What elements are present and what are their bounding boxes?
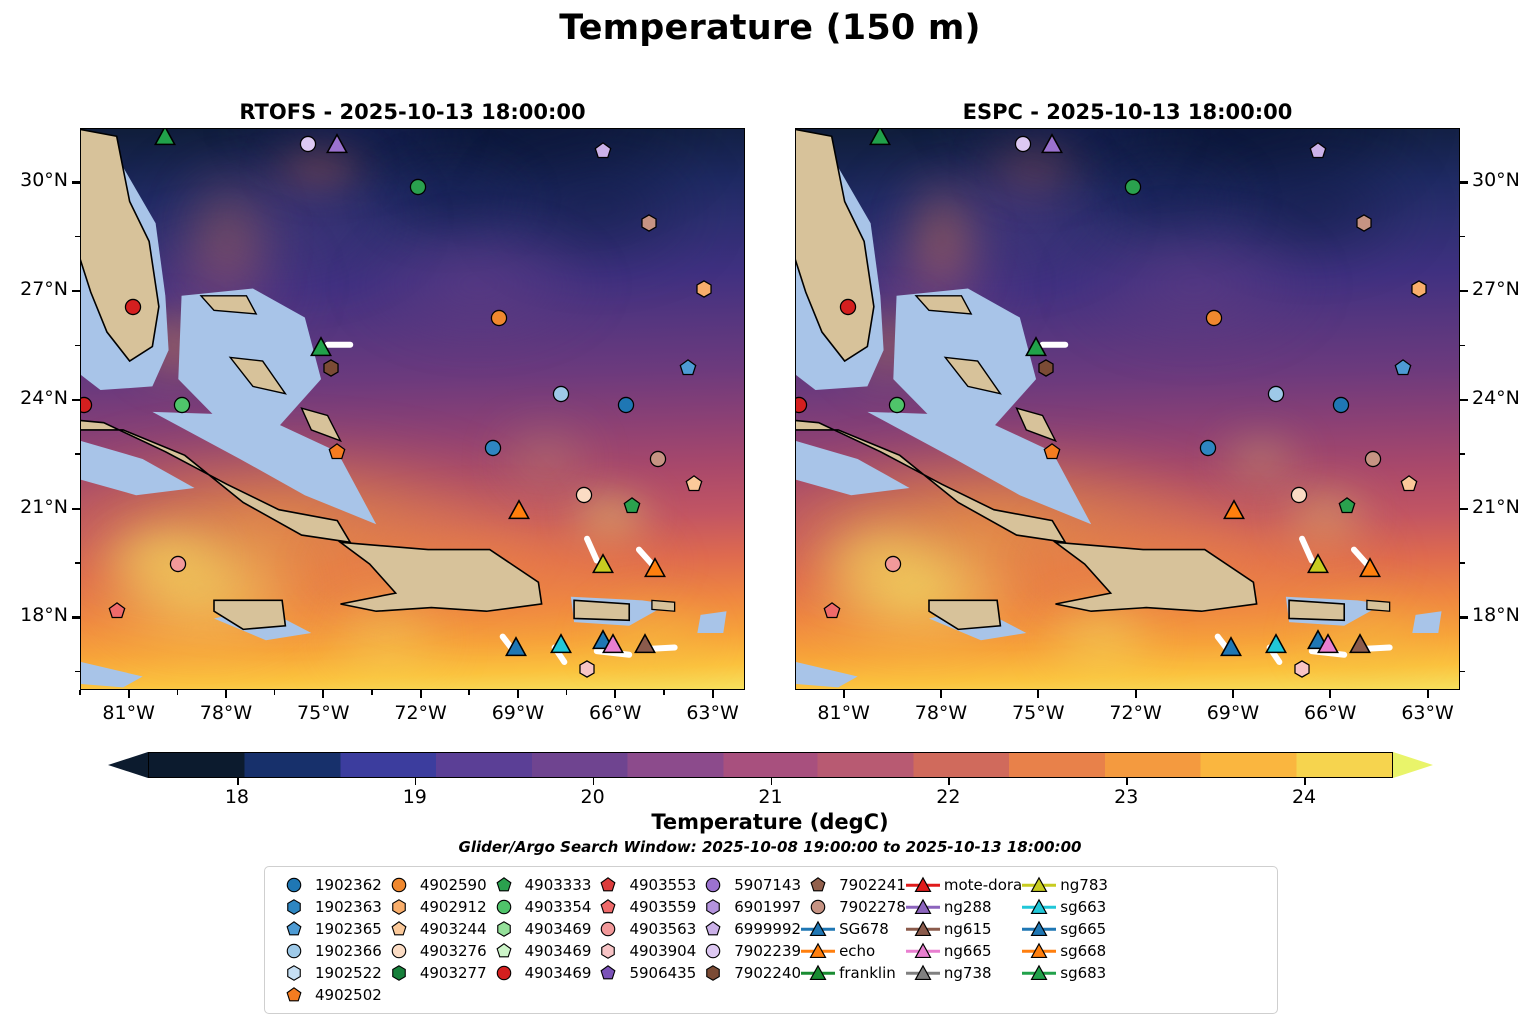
argo-float-marker[interactable] <box>623 497 641 515</box>
glider-marker-icon <box>906 875 940 895</box>
argo-marker-icon <box>801 897 835 917</box>
legend-item[interactable]: 4903553 <box>591 875 696 895</box>
glider-marker[interactable] <box>1317 633 1339 655</box>
land-puertorico <box>574 600 629 620</box>
argo-float-marker[interactable] <box>888 396 906 414</box>
glider-marker-icon <box>801 919 835 939</box>
legend-item-label: 4902912 <box>416 898 487 916</box>
legend-item-label: 5906435 <box>625 964 696 982</box>
colorbar-title: Temperature (degC) <box>0 810 1540 834</box>
lat-label-left: 27°N <box>0 278 68 300</box>
legend-item-label: 4903553 <box>625 876 696 894</box>
legend-item[interactable]: 4903333 <box>487 875 592 895</box>
argo-marker-icon <box>487 897 521 917</box>
glider-marker[interactable] <box>1307 553 1329 575</box>
argo-marker-icon <box>382 897 416 917</box>
glider-marker-icon <box>1022 897 1056 917</box>
lat-tick-right <box>1460 181 1468 183</box>
lon-minor-tick <box>566 690 568 695</box>
colorbar <box>108 752 1433 778</box>
lat-tick-left <box>72 399 80 401</box>
legend-item-label: 4903354 <box>521 898 592 916</box>
argo-marker-icon <box>591 875 625 895</box>
legend-item[interactable]: 4903244 <box>382 919 487 939</box>
argo-marker-icon <box>696 941 730 961</box>
lon-label: 66°W <box>1275 702 1385 724</box>
glider-marker[interactable] <box>1025 336 1047 358</box>
glider-marker[interactable] <box>644 557 666 579</box>
argo-float-marker[interactable] <box>1037 359 1055 377</box>
colorbar-tick-label: 22 <box>913 786 983 808</box>
legend-item[interactable]: sg683 <box>1022 963 1108 983</box>
argo-marker-icon <box>487 941 521 961</box>
argo-float-marker[interactable] <box>1293 660 1311 678</box>
lat-tick-right <box>1460 399 1468 401</box>
glider-marker[interactable] <box>508 499 530 521</box>
legend-item[interactable]: 4903469 <box>487 941 592 961</box>
lat-label-right: 24°N <box>1472 387 1540 409</box>
legend-item-label: 7902240 <box>730 964 801 982</box>
argo-marker-icon <box>591 919 625 939</box>
lat-minor-tick-left <box>75 345 80 347</box>
lat-minor-tick-left <box>75 671 80 673</box>
lon-label: 72°W <box>366 702 476 724</box>
colorbar-tick <box>1304 778 1306 785</box>
argo-marker-icon <box>277 897 311 917</box>
lon-tick <box>1135 690 1137 698</box>
argo-float-marker[interactable] <box>1014 135 1032 153</box>
glider-marker-icon <box>906 897 940 917</box>
legend-item[interactable]: 4903277 <box>382 963 487 983</box>
argo-marker-icon <box>696 875 730 895</box>
glider-marker[interactable] <box>1359 557 1381 579</box>
argo-marker-icon <box>696 963 730 983</box>
land-virginislands <box>652 600 675 611</box>
lat-label-left: 18°N <box>0 604 68 626</box>
legend-item[interactable]: 1902366 <box>277 941 382 961</box>
legend-column: 79022417902278SG678echofranklin <box>801 875 906 1005</box>
legend-item[interactable]: sg663 <box>1022 897 1108 917</box>
legend-item[interactable]: 1902363 <box>277 897 382 917</box>
legend-item[interactable]: ng783 <box>1022 875 1108 895</box>
lat-minor-tick-left <box>75 562 80 564</box>
lat-minor-tick-left <box>75 453 80 455</box>
legend-item-label: 5907143 <box>730 876 801 894</box>
argo-marker-icon <box>277 919 311 939</box>
argo-float-marker[interactable] <box>839 298 857 316</box>
argo-marker-icon <box>696 919 730 939</box>
argo-marker-icon <box>277 875 311 895</box>
argo-float-marker[interactable] <box>1400 475 1418 493</box>
legend-column: 49033334903354490346949034694903469 <box>487 875 592 1005</box>
shelf-nicaragua <box>795 662 858 687</box>
legend-item[interactable]: 6901997 <box>696 897 801 917</box>
legend-item[interactable]: 5907143 <box>696 875 801 895</box>
argo-marker-icon <box>487 875 521 895</box>
legend-column: 49035534903559490356349039045906435 <box>591 875 696 1005</box>
argo-float-marker[interactable] <box>679 359 697 377</box>
legend-item[interactable]: 4903469 <box>487 919 592 939</box>
lat-tick-right <box>1460 290 1468 292</box>
legend-item-label: 1902362 <box>311 876 382 894</box>
argo-marker-icon <box>382 875 416 895</box>
lon-tick <box>420 690 422 698</box>
legend-item[interactable]: ng738 <box>906 963 1022 983</box>
legend-column: 49025904902912490324449032764903277 <box>382 875 487 1005</box>
lat-label-right: 21°N <box>1472 496 1540 518</box>
legend-item-label: 6901997 <box>730 898 801 916</box>
lat-tick-left <box>72 290 80 292</box>
legend-item-label: 4903469 <box>521 964 592 982</box>
figure-title: Temperature (150 m) <box>0 8 1540 48</box>
glider-marker[interactable] <box>1265 633 1287 655</box>
colorbar-tick <box>1126 778 1128 785</box>
argo-marker-icon <box>487 919 521 939</box>
argo-float-marker[interactable] <box>1205 309 1223 327</box>
legend-item-label: 4903276 <box>416 942 487 960</box>
glider-marker-icon <box>1022 919 1056 939</box>
lat-tick-left <box>72 616 80 618</box>
legend-item-label: ng288 <box>940 898 992 916</box>
legend-item[interactable]: 7902239 <box>696 941 801 961</box>
legend-item[interactable]: 1902365 <box>277 919 382 939</box>
panel-title-espc: ESPC - 2025-10-13 18:00:00 <box>795 100 1460 124</box>
glider-marker[interactable] <box>592 553 614 575</box>
legend-item[interactable]: sg665 <box>1022 919 1108 939</box>
glider-marker-icon <box>801 963 835 983</box>
legend-item-label: 6999992 <box>730 920 801 938</box>
legend-item[interactable]: 7902278 <box>801 897 906 917</box>
lon-tick <box>1329 690 1331 698</box>
lon-tick <box>1232 690 1234 698</box>
legend-item-label: 4903559 <box>625 898 696 916</box>
legend-item-label: ng738 <box>940 964 992 982</box>
argo-marker-icon <box>382 919 416 939</box>
legend-column: 1902362190236319023651902366190252249025… <box>277 875 382 1005</box>
legend-item[interactable]: mote-dora <box>906 875 1022 895</box>
glider-marker[interactable] <box>1041 133 1063 155</box>
lat-minor-tick-right <box>1460 671 1465 673</box>
lon-tick <box>1037 690 1039 698</box>
legend-item-label: 4903333 <box>521 876 592 894</box>
glider-marker-icon <box>906 963 940 983</box>
land-longisland <box>1017 408 1056 441</box>
legend-item-label: mote-dora <box>940 876 1022 894</box>
legend-item[interactable]: ng615 <box>906 919 1022 939</box>
legend-item-label: 7902278 <box>835 898 906 916</box>
legend-item[interactable]: 4902502 <box>277 985 382 1005</box>
argo-marker-icon <box>591 941 625 961</box>
legend-item-label: ng783 <box>1056 876 1108 894</box>
colorbar-tick-label: 18 <box>202 786 272 808</box>
panel-title-rtofs: RTOFS - 2025-10-13 18:00:00 <box>80 100 745 124</box>
argo-float-marker[interactable] <box>1267 385 1285 403</box>
lat-label-right: 30°N <box>1472 169 1540 191</box>
glider-marker-icon <box>906 919 940 939</box>
argo-float-marker[interactable] <box>299 135 317 153</box>
legend-item[interactable]: 1902522 <box>277 963 382 983</box>
lat-tick-right <box>1460 508 1468 510</box>
lat-label-right: 27°N <box>1472 278 1540 300</box>
legend-item-label: 4902502 <box>311 986 382 1004</box>
legend-item[interactable]: 4903469 <box>487 963 592 983</box>
lon-minor-tick <box>663 690 665 695</box>
legend-item-label: 1902522 <box>311 964 382 982</box>
colorbar-tick <box>948 778 950 785</box>
legend-item-label: 1902363 <box>311 898 382 916</box>
legend-item-label: sg665 <box>1056 920 1106 938</box>
legend-item-label: 4903469 <box>521 942 592 960</box>
map-panel-espc[interactable] <box>795 128 1460 690</box>
lat-label-right: 18°N <box>1472 604 1540 626</box>
argo-marker-icon <box>591 963 625 983</box>
lon-label: 75°W <box>268 702 378 724</box>
legend-column: ng783sg663sg665sg668sg683 <box>1022 875 1108 1005</box>
legend-column: mote-dorang288ng615ng665ng738 <box>906 875 1022 1005</box>
glider-marker-icon <box>906 941 940 961</box>
legend[interactable]: 1902362190236319023651902366190252249025… <box>264 866 1278 1014</box>
shelf-anguilla <box>697 611 726 633</box>
lon-minor-tick <box>177 690 179 695</box>
legend-item-label: 4903244 <box>416 920 487 938</box>
argo-float-marker[interactable] <box>322 359 340 377</box>
lat-label-left: 30°N <box>0 169 68 191</box>
legend-item[interactable]: 4903276 <box>382 941 487 961</box>
argo-float-marker[interactable] <box>649 450 667 468</box>
legend-item-label: 4903469 <box>521 920 592 938</box>
colorbar-tick-label: 21 <box>736 786 806 808</box>
glider-marker-icon <box>1022 963 1056 983</box>
argo-float-marker[interactable] <box>640 214 658 232</box>
lon-tick <box>614 690 616 698</box>
lat-tick-right <box>1460 616 1468 618</box>
argo-float-marker[interactable] <box>1410 280 1428 298</box>
lon-label: 69°W <box>1178 702 1288 724</box>
legend-item[interactable]: ng665 <box>906 941 1022 961</box>
argo-float-marker[interactable] <box>685 475 703 493</box>
land-jamaica <box>214 600 285 629</box>
glider-marker[interactable] <box>550 633 572 655</box>
argo-float-marker[interactable] <box>552 385 570 403</box>
legend-item-label: sg683 <box>1056 964 1106 982</box>
lon-label: 63°W <box>1373 702 1483 724</box>
land-longisland <box>302 408 341 441</box>
lon-tick <box>712 690 714 698</box>
lat-minor-tick-right <box>1460 345 1465 347</box>
lon-tick <box>128 690 130 698</box>
argo-float-marker[interactable] <box>884 555 902 573</box>
lat-tick-left <box>72 508 80 510</box>
glider-marker[interactable] <box>154 128 176 147</box>
argo-marker-icon <box>487 963 521 983</box>
lat-label-left: 21°N <box>0 496 68 518</box>
legend-item[interactable]: 1902362 <box>277 875 382 895</box>
glider-marker[interactable] <box>1223 499 1245 521</box>
argo-marker-icon <box>277 941 311 961</box>
lon-label: 75°W <box>983 702 1093 724</box>
colorbar-gradient <box>148 752 1393 778</box>
argo-float-marker[interactable] <box>1309 142 1327 160</box>
argo-float-marker[interactable] <box>173 396 191 414</box>
argo-marker-icon <box>382 963 416 983</box>
lon-minor-tick <box>79 690 81 695</box>
argo-float-marker[interactable] <box>1394 359 1412 377</box>
lon-tick <box>940 690 942 698</box>
argo-float-marker[interactable] <box>328 443 346 461</box>
lon-tick <box>1427 690 1429 698</box>
argo-float-marker[interactable] <box>1332 396 1350 414</box>
argo-float-marker[interactable] <box>1043 443 1061 461</box>
land-puertorico <box>1289 600 1344 620</box>
colorbar-tick-label: 24 <box>1269 786 1339 808</box>
glider-marker-icon <box>801 941 835 961</box>
colorbar-tick <box>415 778 417 785</box>
glider-marker[interactable] <box>602 633 624 655</box>
lon-tick <box>517 690 519 698</box>
glider-marker[interactable] <box>505 636 527 658</box>
argo-float-marker[interactable] <box>1199 439 1217 457</box>
lon-minor-tick <box>274 690 276 695</box>
glider-marker[interactable] <box>1349 633 1371 655</box>
argo-float-marker[interactable] <box>1290 486 1308 504</box>
lon-label: 81°W <box>74 702 184 724</box>
colorbar-tick <box>771 778 773 785</box>
legend-item-label: franklin <box>835 964 896 982</box>
argo-float-marker[interactable] <box>1124 178 1142 196</box>
lon-label: 81°W <box>789 702 899 724</box>
argo-float-marker[interactable] <box>124 298 142 316</box>
legend-item-label: SG678 <box>835 920 889 938</box>
legend-item[interactable]: SG678 <box>801 919 906 939</box>
legend-item-label: 7902239 <box>730 942 801 960</box>
lat-tick-left <box>72 181 80 183</box>
legend-item-label: 4903277 <box>416 964 487 982</box>
legend-item-label: 7902241 <box>835 876 906 894</box>
argo-marker-icon <box>382 941 416 961</box>
land-virginislands <box>1367 600 1390 611</box>
legend-item[interactable]: franklin <box>801 963 906 983</box>
legend-item-label: sg668 <box>1056 942 1106 960</box>
lon-tick <box>225 690 227 698</box>
land-hispaniola <box>341 542 542 611</box>
glider-marker-icon <box>1022 875 1056 895</box>
legend-item-label: 1902365 <box>311 920 382 938</box>
legend-item[interactable]: 6999992 <box>696 919 801 939</box>
argo-float-marker[interactable] <box>795 396 808 414</box>
glider-marker[interactable] <box>310 336 332 358</box>
argo-float-marker[interactable] <box>575 486 593 504</box>
land-jamaica <box>929 600 1000 629</box>
argo-marker-icon <box>277 985 311 1005</box>
legend-item[interactable]: 4903563 <box>591 919 696 939</box>
lon-minor-tick <box>371 690 373 695</box>
argo-float-marker[interactable] <box>617 396 635 414</box>
legend-item[interactable]: 5906435 <box>591 963 696 983</box>
legend-item-label: ng615 <box>940 920 992 938</box>
colorbar-tick <box>237 778 239 785</box>
land-hispaniola <box>1056 542 1257 611</box>
legend-item[interactable]: 4903904 <box>591 941 696 961</box>
lon-label: 66°W <box>560 702 670 724</box>
legend-item-label: echo <box>835 942 875 960</box>
colorbar-tick-label: 19 <box>380 786 450 808</box>
lon-label: 72°W <box>1081 702 1191 724</box>
legend-item-label: 4903563 <box>625 920 696 938</box>
lat-minor-tick-right <box>1460 236 1465 238</box>
argo-float-marker[interactable] <box>490 309 508 327</box>
argo-float-marker[interactable] <box>409 178 427 196</box>
colorbar-tick-label: 23 <box>1091 786 1161 808</box>
glider-marker[interactable] <box>1220 636 1242 658</box>
colorbar-tick-label: 20 <box>558 786 628 808</box>
lon-minor-tick <box>468 690 470 695</box>
legend-item-label: ng665 <box>940 942 992 960</box>
legend-item-label: sg663 <box>1056 898 1106 916</box>
colorbar-extend-low <box>108 752 148 778</box>
glider-marker[interactable] <box>634 633 656 655</box>
lat-minor-tick-right <box>1460 453 1465 455</box>
legend-item[interactable]: 4902590 <box>382 875 487 895</box>
legend-column: 59071436901997699999279022397902240 <box>696 875 801 1005</box>
argo-float-marker[interactable] <box>594 142 612 160</box>
map-panel-rtofs[interactable] <box>80 128 745 690</box>
lat-label-left: 24°N <box>0 387 68 409</box>
lon-label: 63°W <box>658 702 768 724</box>
argo-marker-icon <box>277 963 311 983</box>
legend-item[interactable]: 4903559 <box>591 897 696 917</box>
argo-float-marker[interactable] <box>578 660 596 678</box>
lon-label: 69°W <box>463 702 573 724</box>
legend-item[interactable]: echo <box>801 941 906 961</box>
lat-minor-tick-right <box>1460 562 1465 564</box>
argo-float-marker[interactable] <box>1338 497 1356 515</box>
argo-float-marker[interactable] <box>695 280 713 298</box>
glider-marker[interactable] <box>869 128 891 147</box>
legend-item[interactable]: 7902241 <box>801 875 906 895</box>
legend-item-label: 1902366 <box>311 942 382 960</box>
legend-item-label: 4903904 <box>625 942 696 960</box>
shelf-cuba-s <box>795 437 910 495</box>
legend-item[interactable]: 4902912 <box>382 897 487 917</box>
legend-item[interactable]: 4903354 <box>487 897 592 917</box>
argo-float-marker[interactable] <box>1355 214 1373 232</box>
lat-minor-tick-left <box>75 236 80 238</box>
argo-float-marker[interactable] <box>1364 450 1382 468</box>
lon-label: 78°W <box>171 702 281 724</box>
shelf-cuba-s <box>80 437 195 495</box>
legend-item[interactable]: ng288 <box>906 897 1022 917</box>
argo-float-marker[interactable] <box>484 439 502 457</box>
glider-marker[interactable] <box>326 133 348 155</box>
colorbar-tick <box>593 778 595 785</box>
argo-marker-icon <box>801 875 835 895</box>
glider-marker-icon <box>1022 941 1056 961</box>
argo-float-marker[interactable] <box>80 396 93 414</box>
legend-item[interactable]: 7902240 <box>696 963 801 983</box>
argo-float-marker[interactable] <box>108 602 126 620</box>
argo-float-marker[interactable] <box>169 555 187 573</box>
legend-item[interactable]: sg668 <box>1022 941 1108 961</box>
colorbar-extend-high <box>1393 752 1433 778</box>
lon-tick <box>843 690 845 698</box>
lon-label: 78°W <box>886 702 996 724</box>
argo-marker-icon <box>591 897 625 917</box>
lon-tick <box>322 690 324 698</box>
legend-item-label: 4902590 <box>416 876 487 894</box>
argo-float-marker[interactable] <box>823 602 841 620</box>
shelf-anguilla <box>1412 611 1441 633</box>
shelf-nicaragua <box>80 662 143 687</box>
